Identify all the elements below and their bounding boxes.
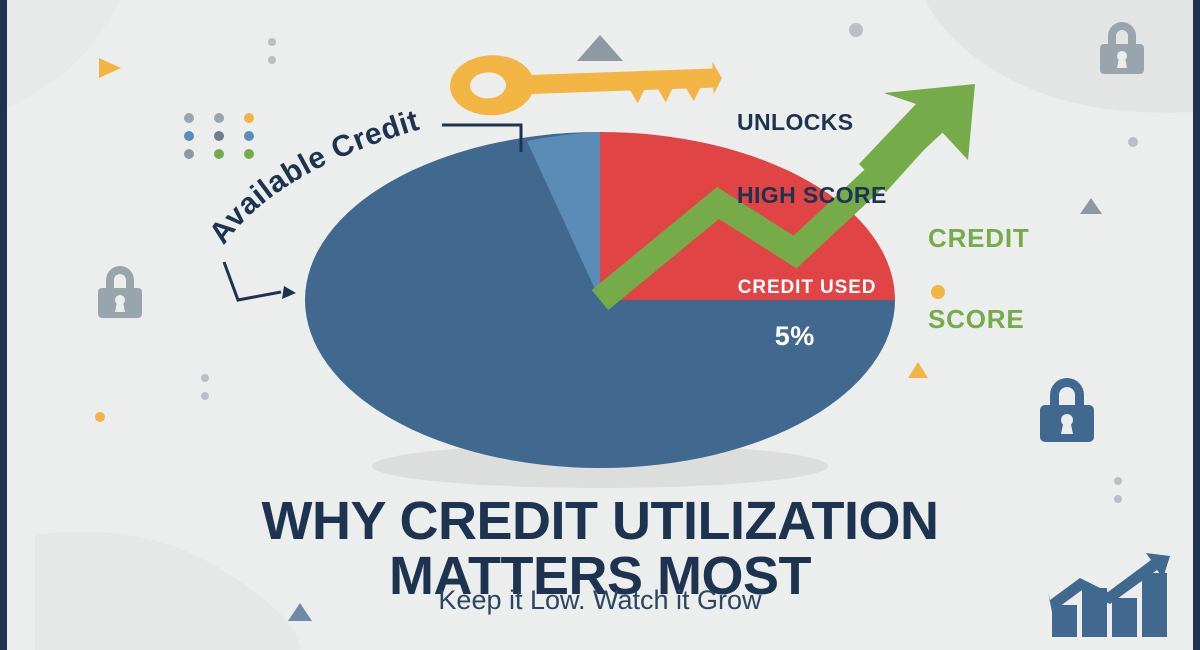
credit-score-label: CREDIT SCORE	[928, 170, 1030, 388]
unlocks-line-2: HIGH SCORE	[737, 183, 887, 207]
credit-used-percent: 5%	[713, 322, 876, 350]
arrow-icon	[282, 286, 296, 299]
credit-used-label: CREDIT USED 5%	[713, 258, 876, 390]
title-line-1: WHY CREDIT UTILIZATION	[0, 494, 1200, 549]
credit-score-line-1: CREDIT	[928, 225, 1030, 252]
page-subtitle: Keep it Low. Watch it Grow	[0, 585, 1200, 616]
unlocks-line-1: UNLOCKS	[737, 110, 887, 134]
unlocks-high-score-label: UNLOCKS HIGH SCORE	[737, 62, 887, 255]
leader-line-bottom	[224, 262, 281, 300]
credit-used-text: CREDIT USED	[738, 277, 877, 298]
infographic-canvas: Available Credit UNLOCKS HIGH SCORE CRED…	[0, 0, 1200, 650]
leader-line-top	[442, 125, 521, 152]
credit-score-line-2: SCORE	[928, 306, 1030, 333]
